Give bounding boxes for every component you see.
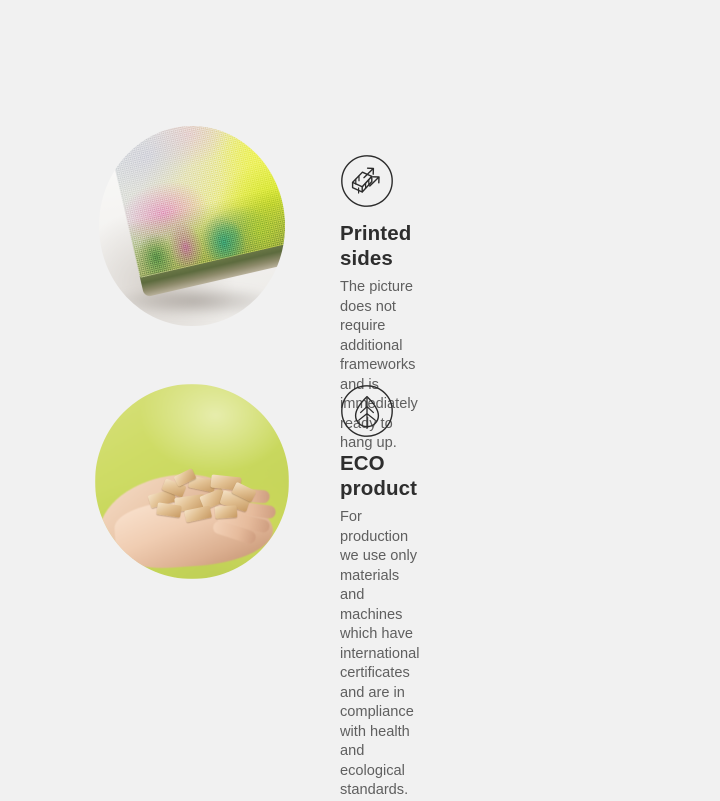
canvas-print-photo	[99, 126, 285, 326]
wood-chips-photo	[95, 384, 289, 579]
eco-product-icon	[340, 384, 394, 438]
eco-product-text-block: ECO product For production we use only m…	[340, 384, 420, 801]
eco-product-description: For production we use only materials and…	[340, 508, 420, 801]
canvas-print-circle-crop	[99, 126, 285, 326]
printed-sides-title: Printed sides	[340, 222, 418, 271]
product-features-page: Printed sides The picture does not requi…	[0, 0, 720, 720]
wood-chip	[215, 505, 238, 519]
eco-product-title: ECO product	[340, 452, 420, 501]
wood-chips-circle-crop	[95, 384, 289, 579]
wood-chips-pile	[145, 470, 261, 528]
wood-chip	[156, 502, 181, 517]
printed-sides-icon	[340, 154, 394, 208]
hands-holding-chips	[97, 470, 287, 566]
